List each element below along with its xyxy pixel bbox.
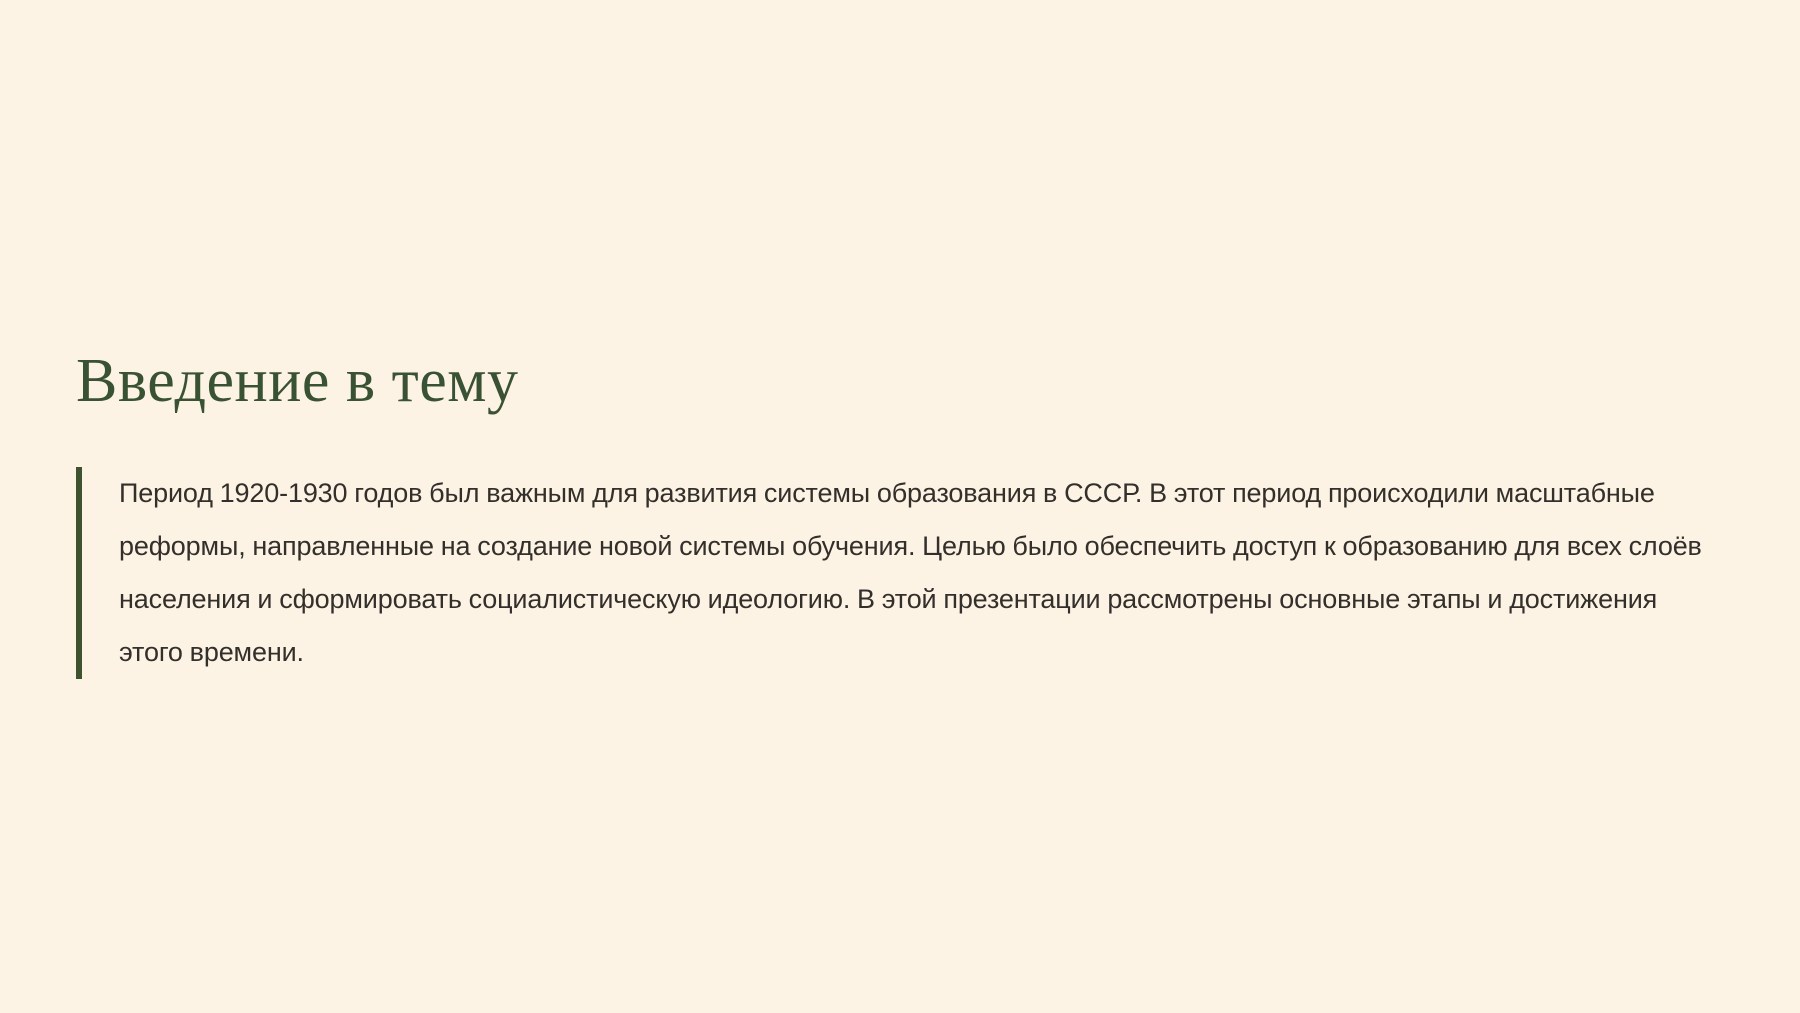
page-title: Введение в тему xyxy=(76,350,1726,412)
presentation-slide: Введение в тему Период 1920-1930 годов б… xyxy=(0,0,1800,1013)
body-paragraph: Период 1920-1930 годов был важным для ра… xyxy=(82,467,1726,679)
body-callout-block: Период 1920-1930 годов был важным для ра… xyxy=(76,467,1726,679)
slide-content: Введение в тему Период 1920-1930 годов б… xyxy=(0,0,1800,1013)
